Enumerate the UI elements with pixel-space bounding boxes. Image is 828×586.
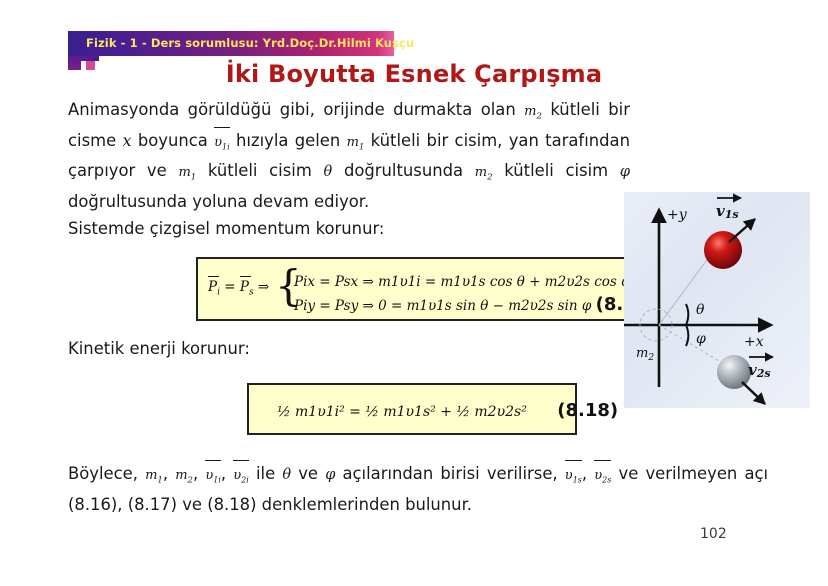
- phi-arc: [686, 325, 688, 346]
- intro-text-8: kütleli cisim: [504, 161, 608, 180]
- closing-text-2: ile: [256, 464, 275, 483]
- collision-diagram: +y +x m2 θ φ v1s v2s: [624, 192, 810, 408]
- header-banner: Fizik - 1 - Ders sorumlusu: Yrd.Doç.Dr.H…: [68, 31, 394, 56]
- closing-comma: ,: [582, 464, 587, 483]
- momentum-lead-label: Sistemde çizgisel momentum korunur:: [68, 219, 384, 238]
- symbol-v1i-inline: υ1i: [214, 131, 230, 159]
- symbol-v2i-closing: υ2i: [233, 464, 249, 492]
- intro-text-7: doğrultusunda: [344, 161, 463, 180]
- symbol-x-inline: x: [122, 131, 131, 150]
- equation-816-tail: cos θ + m2υ2s cos φ: [490, 274, 631, 290]
- course-header-text: Fizik - 1 - Ders sorumlusu: Yrd.Doç.Dr.H…: [86, 36, 414, 50]
- intro-paragraph: Animasyonda görüldüğü gibi, orijinde dur…: [68, 98, 630, 213]
- energy-lead-label: Kinetik enerji korunur:: [68, 339, 250, 358]
- symbol-theta-closing: θ: [282, 467, 291, 483]
- intro-text-6: kütleli cisim: [208, 161, 312, 180]
- label-phi: φ: [696, 331, 706, 347]
- closing-text-1: Böylece,: [68, 464, 138, 483]
- collision-diagram-svg: +y +x m2 θ φ v1s v2s: [624, 192, 810, 408]
- label-theta: θ: [696, 302, 705, 318]
- velocity-arrow-v1s: [729, 219, 755, 242]
- equation-818-body: ½ m1υ1i² = ½ m1υ1s² + ½ m2υ2s²: [277, 404, 527, 420]
- symbol-v1i-closing: υ1i: [205, 464, 221, 492]
- symbol-m1-inline-1: m1: [347, 135, 365, 150]
- equation-row-817: Piy = Psy ⇒ 0 = m1υ1s sin θ − m2υ2s sin …: [294, 294, 657, 315]
- ball-m2: [717, 355, 751, 389]
- symbol-v1s-closing: υ1s: [565, 464, 582, 492]
- symbol-phi-inline-1: φ: [620, 164, 630, 180]
- theta-arc: [686, 304, 688, 325]
- label-v2s: v2s: [748, 361, 771, 380]
- intro-text-3: boyunca: [138, 131, 208, 150]
- label-v1s: v1s: [716, 202, 739, 221]
- velocity-arrow-v2s: [742, 382, 765, 404]
- closing-text-4: açılarından birisi verilirse,: [343, 464, 558, 483]
- intro-text-4: hızıyla gelen: [236, 131, 340, 150]
- equation-817-tail: sin θ − m2υ2s sin φ: [456, 298, 591, 314]
- equation-817-body: Piy = Psy ⇒ 0 = m1υ1s: [294, 298, 452, 314]
- symbol-m2-closing: m2: [175, 468, 193, 483]
- equation-box-energy: ½ m1υ1i² = ½ m1υ1s² + ½ m2υ2s² (8.18): [247, 383, 577, 435]
- closing-text-3: ve: [298, 464, 318, 483]
- equation-816-body: Pix = Psx ⇒ m1υ1i = m1υ1s: [294, 274, 486, 290]
- equation-lhs-momentum: Pi = Ps ⇒: [208, 279, 269, 298]
- intro-text-1: Animasyonda görüldüğü gibi, orijinde dur…: [68, 100, 516, 119]
- page-number: 102: [700, 526, 727, 542]
- symbol-m2-inline-1: m2: [524, 104, 542, 119]
- symbol-m1-closing: m1: [145, 468, 163, 483]
- intro-text-9: doğrultusunda yoluna devam ediyor.: [68, 192, 369, 211]
- label-plus-y: +y: [667, 207, 688, 223]
- symbol-phi-closing: φ: [325, 467, 335, 483]
- label-m2: m2: [636, 346, 654, 363]
- equation-row-818: ½ m1υ1i² = ½ m1υ1s² + ½ m2υ2s² (8.18): [277, 400, 618, 421]
- equation-box-momentum: Pi = Ps ⇒ { Pix = Psx ⇒ m1υ1i = m1υ1s co…: [196, 257, 646, 321]
- equation-818-number: (8.18): [557, 400, 618, 421]
- symbol-v2s-closing: υ2s: [594, 464, 611, 492]
- symbol-m1-inline-2: m1: [178, 165, 196, 180]
- closing-paragraph: Böylece, m1, m2, υ1i, υ2i ile θ ve φ açı…: [68, 462, 768, 516]
- label-plus-x: +x: [744, 334, 764, 350]
- symbol-m2-inline-2: m2: [475, 165, 493, 180]
- symbol-theta-inline-1: θ: [324, 164, 333, 180]
- page-title: İki Boyutta Esnek Çarpışma: [0, 60, 828, 88]
- slide-canvas: Fizik - 1 - Ders sorumlusu: Yrd.Doç.Dr.H…: [0, 0, 828, 586]
